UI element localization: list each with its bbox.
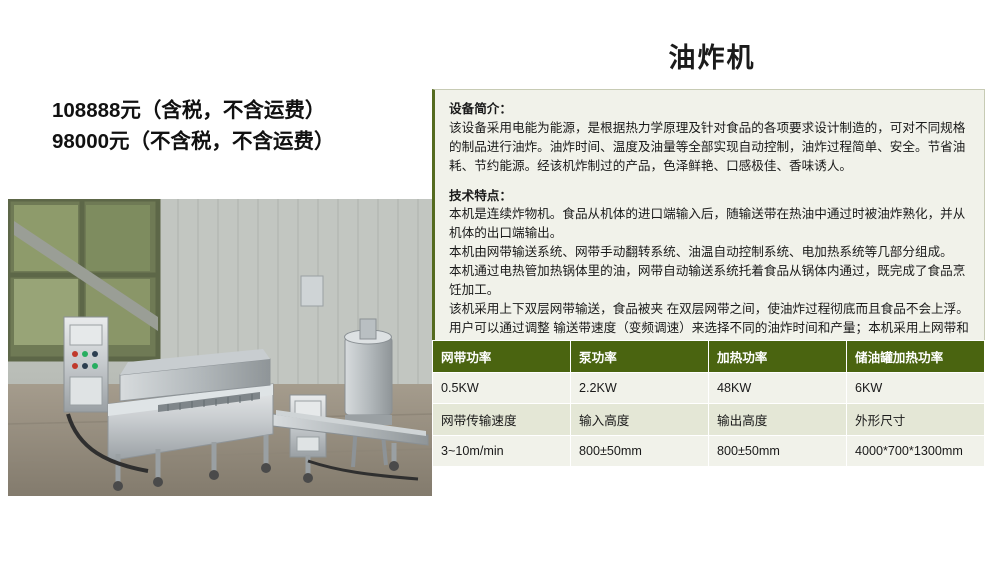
intro-heading: 设备简介：	[449, 100, 972, 119]
tech-line-1: 本机是连续炸物机。食品从机体的进口端输入后，随输送带在热油中通过时被油炸熟化，并…	[449, 205, 972, 243]
table-header-cell: 网带功率	[433, 341, 571, 373]
price-without-tax: 98000元（不含税，不含运费）	[52, 127, 432, 158]
table-header-cell: 泵功率	[571, 341, 709, 373]
tech-line-2: 本机由网带输送系统、网带手动翻转系统、油温自动控制系统、电加热系统等几部分组成。	[449, 243, 972, 262]
table-cell: 800±50mm	[709, 436, 847, 467]
table-cell: 网带传输速度	[433, 404, 571, 436]
specification-table: 网带功率 泵功率 加热功率 储油罐加热功率 0.5KW 2.2KW 48KW 6…	[432, 340, 985, 467]
table-row: 3~10m/min 800±50mm 800±50mm 4000*700*130…	[433, 436, 985, 467]
document-page: 油炸机 108888元（含税，不含运费） 98000元（不含税，不含运费）	[0, 0, 1000, 563]
table-header-cell: 储油罐加热功率	[847, 341, 985, 373]
tech-heading: 技术特点：	[449, 187, 972, 206]
table-cell: 外形尺寸	[847, 404, 985, 436]
table-row: 0.5KW 2.2KW 48KW 6KW	[433, 373, 985, 404]
table-cell: 输入高度	[571, 404, 709, 436]
page-title: 油炸机	[432, 36, 992, 75]
intro-body: 该设备采用电能为能源，是根据热力学原理及针对食品的各项要求设计制造的，可对不同规…	[449, 119, 972, 176]
table-header-row: 网带功率 泵功率 加热功率 储油罐加热功率	[433, 341, 985, 373]
table-row: 网带传输速度 输入高度 输出高度 外形尺寸	[433, 404, 985, 436]
table-cell: 2.2KW	[571, 373, 709, 404]
table-header-cell: 加热功率	[709, 341, 847, 373]
price-with-tax: 108888元（含税，不含运费）	[52, 96, 432, 127]
table-cell: 48KW	[709, 373, 847, 404]
table-cell: 800±50mm	[571, 436, 709, 467]
table-cell: 0.5KW	[433, 373, 571, 404]
product-photo	[8, 199, 432, 496]
price-block: 108888元（含税，不含运费） 98000元（不含税，不含运费）	[52, 96, 432, 158]
fryer-machine-illustration	[8, 199, 432, 496]
table-cell: 3~10m/min	[433, 436, 571, 467]
table-cell: 4000*700*1300mm	[847, 436, 985, 467]
tech-line-3: 本机通过电热管加热锅体里的油，网带自动输送系统托着食品从锅体内通过，既完成了食品…	[449, 262, 972, 300]
table-cell: 6KW	[847, 373, 985, 404]
table-cell: 输出高度	[709, 404, 847, 436]
